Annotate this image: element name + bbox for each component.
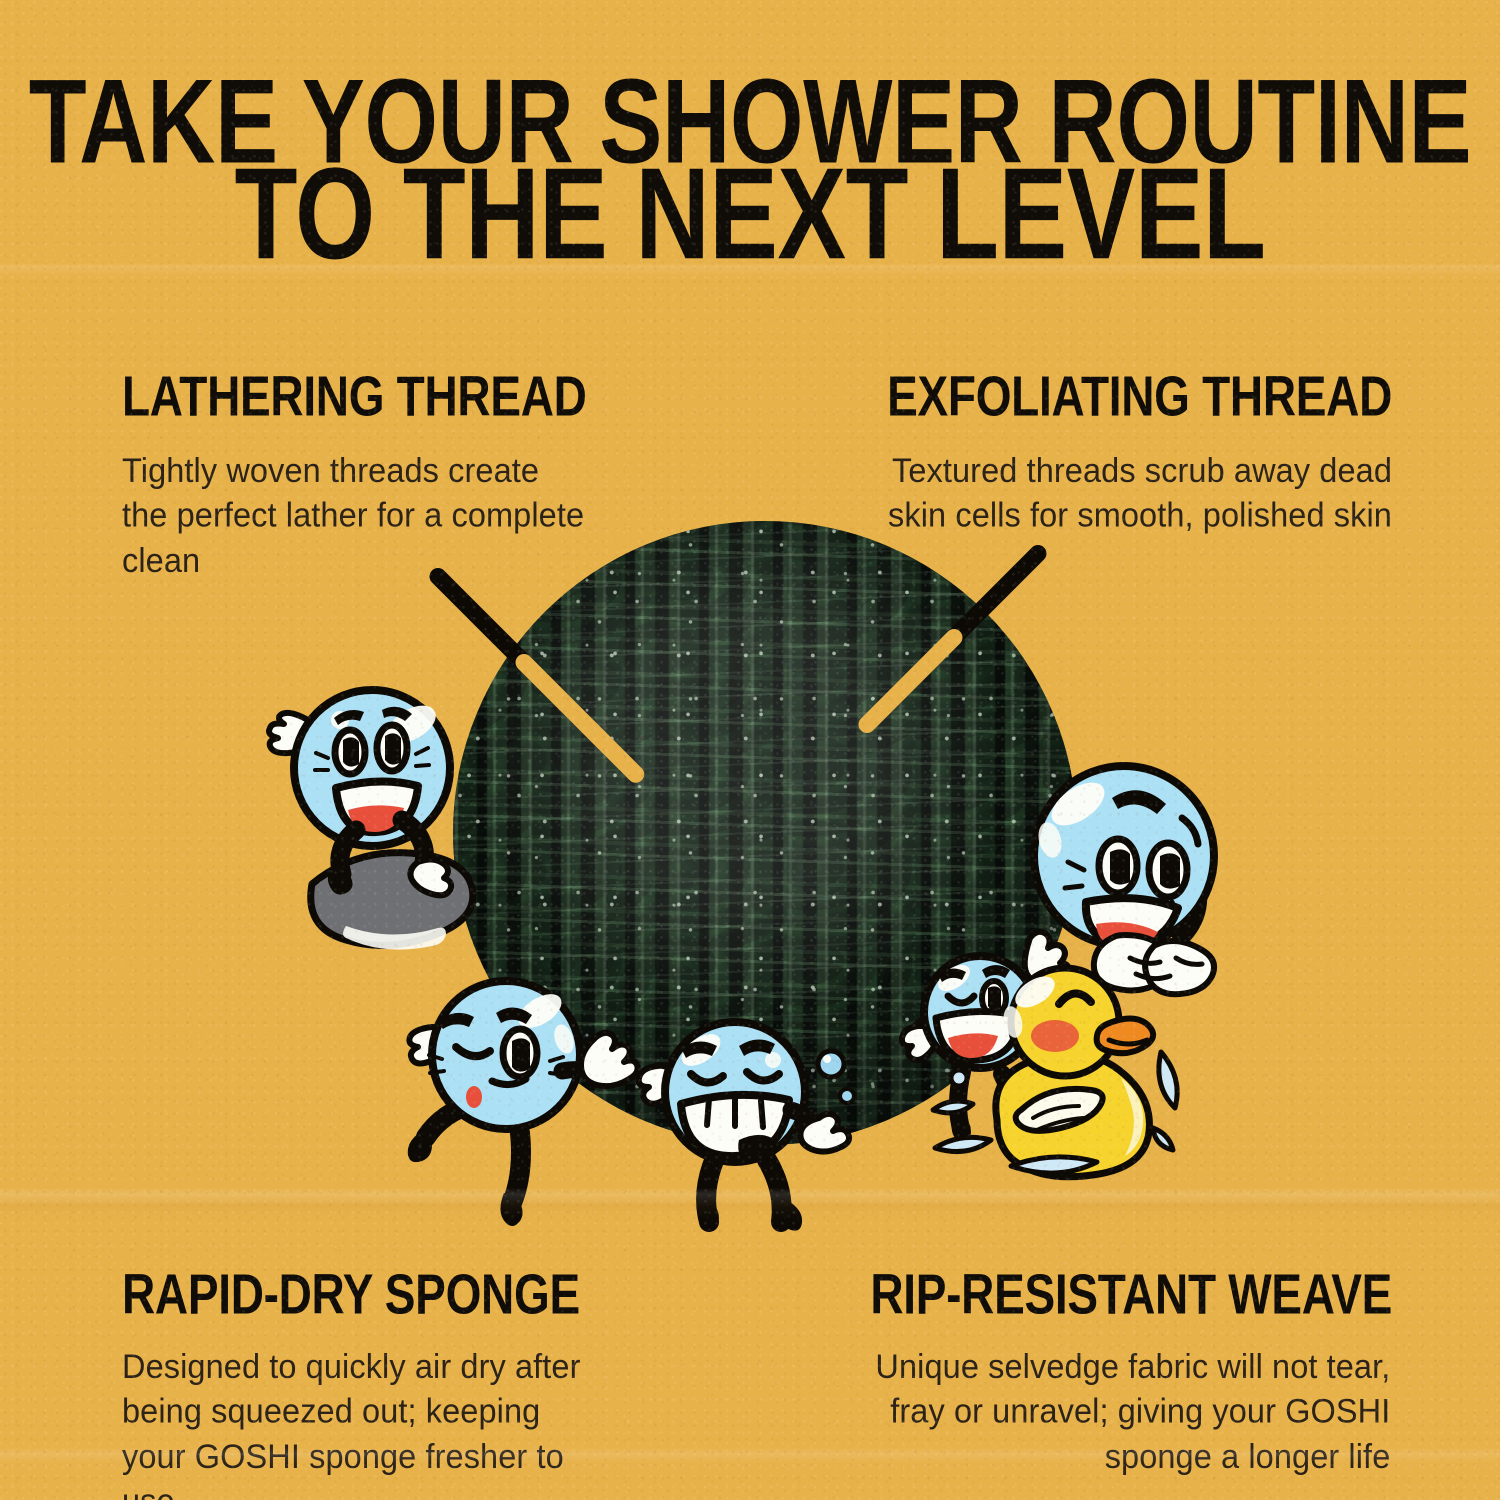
feature-rapid-dry-sponge: RAPID-DRY SPONGE Designed to quickly air… xyxy=(122,1276,606,1500)
feature-rip-resistant-weave: RIP-RESISTANT WEAVE Unique selvedge fabr… xyxy=(870,1276,1392,1471)
bubble-surfer-character xyxy=(250,648,510,968)
feature-lathering-thread: LATHERING THREAD Tightly woven threads c… xyxy=(122,378,592,575)
product-infographic: TAKE YOUR SHOWER ROUTINE TO THE NEXT LEV… xyxy=(0,0,1500,1500)
feature-body-lathering: Tightly woven threads create the perfect… xyxy=(122,448,592,582)
rubber-duck-character xyxy=(925,960,1215,1190)
feature-body-exfoliating: Textured threads scrub away dead skin ce… xyxy=(886,448,1392,538)
feature-body-rip-resistant: Unique selvedge fabric will not tear, fr… xyxy=(870,1344,1390,1478)
feature-exfoliating-thread: EXFOLIATING THREAD Textured threads scru… xyxy=(886,378,1392,533)
bubble-grinning-character xyxy=(635,1000,870,1235)
bubble-waving-character xyxy=(398,955,658,1230)
feature-body-rapid-dry: Designed to quickly air dry after being … xyxy=(122,1344,606,1500)
feature-title-exfoliating: EXFOLIATING THREAD xyxy=(886,368,1392,424)
feature-title-lathering: LATHERING THREAD xyxy=(122,368,592,424)
feature-title-rip-resistant: RIP-RESISTANT WEAVE xyxy=(870,1266,1392,1322)
feature-title-rapid-dry: RAPID-DRY SPONGE xyxy=(122,1266,606,1322)
headline-line-2: TO THE NEXT LEVEL xyxy=(0,152,1500,277)
